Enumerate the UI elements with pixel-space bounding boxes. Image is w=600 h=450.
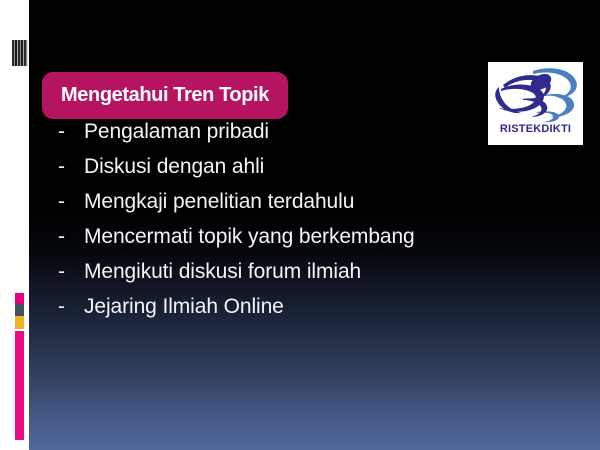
list-item: - Mengikuti diskusi forum ilmiah	[58, 260, 528, 295]
bullet-dash-icon: -	[58, 225, 84, 249]
list-item-label: Mengikuti diskusi forum ilmiah	[84, 260, 361, 284]
list-item: - Jejaring Ilmiah Online	[58, 295, 528, 330]
list-item-label: Mengkaji penelitian terdahulu	[84, 190, 354, 214]
accent-bar-magenta-icon	[15, 331, 24, 440]
bullet-dash-icon: -	[58, 295, 84, 319]
bullet-dash-icon: -	[58, 260, 84, 284]
bullet-dash-icon: -	[58, 190, 84, 214]
list-item-label: Pengalaman pribadi	[84, 120, 269, 144]
vertical-bars-ornament-icon	[12, 40, 28, 66]
page-title: Mengetahui Tren Topik	[61, 84, 269, 107]
ristekdikti-swoosh-icon	[493, 65, 579, 123]
list-item-label: Mencermati topik yang berkembang	[84, 225, 415, 249]
bullet-list: - Pengalaman pribadi - Diskusi dengan ah…	[58, 120, 528, 330]
bullet-dash-icon: -	[58, 155, 84, 179]
slide-canvas: Mengetahui Tren Topik - Pengalaman priba…	[0, 0, 600, 450]
list-item: - Diskusi dengan ahli	[58, 155, 528, 190]
list-item: - Pengalaman pribadi	[58, 120, 528, 155]
list-item-label: Diskusi dengan ahli	[84, 155, 264, 179]
accent-chip-gold-icon	[15, 316, 24, 329]
ristekdikti-logo: RISTEKDIKTI	[488, 62, 583, 145]
slide-title-pill: Mengetahui Tren Topik	[42, 72, 288, 119]
accent-chip-pink-icon	[15, 293, 24, 304]
list-item: - Mencermati topik yang berkembang	[58, 225, 528, 260]
bullet-dash-icon: -	[58, 120, 84, 144]
accent-chip-slate-icon	[15, 304, 24, 316]
list-item-label: Jejaring Ilmiah Online	[84, 295, 284, 319]
logo-wordmark: RISTEKDIKTI	[500, 123, 571, 135]
list-item: - Mengkaji penelitian terdahulu	[58, 190, 528, 225]
